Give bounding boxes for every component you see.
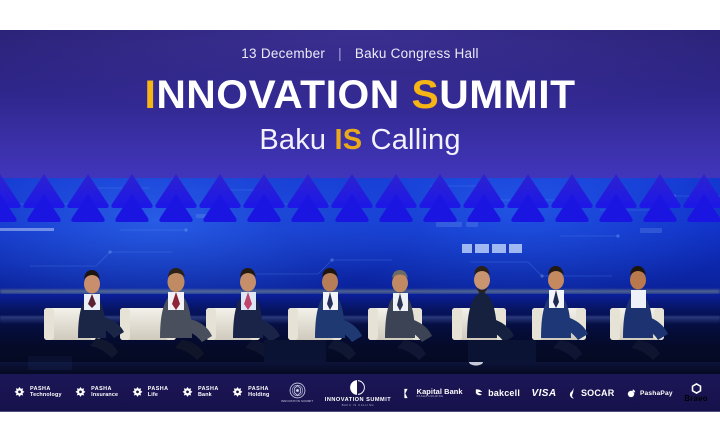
sponsor-name-line2: Holding bbox=[248, 393, 269, 399]
pasha-flower-icon bbox=[180, 386, 195, 401]
kapital-bank-name: Kapital Bank bbox=[417, 388, 463, 395]
panelist-2 bbox=[160, 268, 212, 360]
sponsor-logo-bar: PASHA Technology PASHA Insurance PASHA bbox=[0, 374, 720, 412]
sponsor-visa[interactable]: VISA bbox=[532, 388, 557, 399]
emblem-caption-line1: INNOVATION SUMMIT bbox=[281, 400, 313, 403]
sponsor-pasha-holding[interactable]: PASHA Holding bbox=[230, 386, 269, 401]
pasha-flower-icon bbox=[12, 386, 27, 401]
panelist-5 bbox=[385, 270, 432, 360]
pashapay-drop-icon bbox=[626, 388, 637, 399]
sponsor-kapital-bank[interactable]: Kapital Bank PASHA HOLDING bbox=[403, 388, 463, 399]
tagline-is: IS bbox=[335, 124, 363, 156]
title-gold-s: S bbox=[412, 73, 440, 117]
visa-name: VISA bbox=[532, 388, 557, 399]
kapital-bank-tagline: PASHA HOLDING bbox=[417, 396, 463, 399]
stage-photo bbox=[0, 170, 720, 382]
panelists-group bbox=[0, 170, 720, 382]
sponsor-socar[interactable]: SOCAR bbox=[568, 387, 615, 399]
sponsor-name-line2: Life bbox=[148, 393, 169, 399]
pasha-flower-icon bbox=[130, 386, 145, 401]
sponsor-name-line2: Insurance bbox=[91, 393, 118, 399]
tagline-baku: Baku bbox=[259, 124, 334, 156]
bakcell-icon bbox=[474, 388, 485, 399]
pasha-flower-icon bbox=[230, 386, 245, 401]
sponsor-bar-bottom-rule bbox=[0, 411, 720, 412]
panelist-1 bbox=[78, 270, 124, 358]
meta-separator: | bbox=[338, 46, 342, 61]
socar-flame-icon bbox=[568, 387, 578, 399]
is-logo-name: INNOVATION SUMMIT bbox=[325, 397, 391, 403]
tagline-calling: Calling bbox=[362, 124, 460, 156]
sponsor-pasha-bank[interactable]: PASHA Bank bbox=[180, 386, 219, 401]
title-summit: UMMIT bbox=[439, 73, 575, 117]
is-logo-subtitle: BAKU IS CALLING bbox=[342, 404, 375, 407]
sponsor-circular-emblem[interactable]: INNOVATION SUMMIT bbox=[281, 382, 313, 403]
sponsor-pasha-technology[interactable]: PASHA Technology bbox=[12, 386, 62, 401]
socar-name: SOCAR bbox=[581, 388, 615, 398]
bravo-hex-icon bbox=[691, 383, 702, 394]
title-innovation: NNOVATION bbox=[156, 73, 399, 117]
pashapay-name: PashaPay bbox=[640, 390, 673, 397]
sponsor-pashapay[interactable]: PashaPay bbox=[626, 388, 673, 399]
event-venue: Baku Congress Hall bbox=[355, 46, 479, 61]
event-date: 13 December bbox=[241, 46, 325, 61]
sponsor-name-line2: Technology bbox=[30, 393, 62, 399]
circular-emblem-icon bbox=[289, 382, 306, 399]
event-meta: 13 December | Baku Congress Hall bbox=[0, 46, 720, 61]
innovation-summit-circle-icon bbox=[349, 379, 366, 396]
title-gold-i: I bbox=[144, 73, 156, 117]
pasha-flower-icon bbox=[73, 386, 88, 401]
sponsor-name-line2: Bank bbox=[198, 393, 219, 399]
sponsor-bakcell[interactable]: bakcell bbox=[474, 388, 520, 399]
event-tagline: Baku IS Calling bbox=[0, 126, 720, 155]
sponsor-pasha-life[interactable]: PASHA Life bbox=[130, 386, 169, 401]
page-title: INNOVATION SUMMIT bbox=[0, 75, 720, 115]
bravo-name: Bravo bbox=[684, 395, 708, 403]
event-banner: 13 December | Baku Congress Hall INNOVAT… bbox=[0, 30, 720, 412]
sponsor-pasha-insurance[interactable]: PASHA Insurance bbox=[73, 386, 118, 401]
banner-header: 13 December | Baku Congress Hall INNOVAT… bbox=[0, 30, 720, 178]
sponsor-innovation-summit[interactable]: INNOVATION SUMMIT BAKU IS CALLING bbox=[325, 379, 391, 407]
kapital-bank-icon bbox=[403, 388, 414, 399]
sponsor-bravo[interactable]: Bravo bbox=[684, 383, 708, 403]
bakcell-name: bakcell bbox=[488, 388, 520, 398]
